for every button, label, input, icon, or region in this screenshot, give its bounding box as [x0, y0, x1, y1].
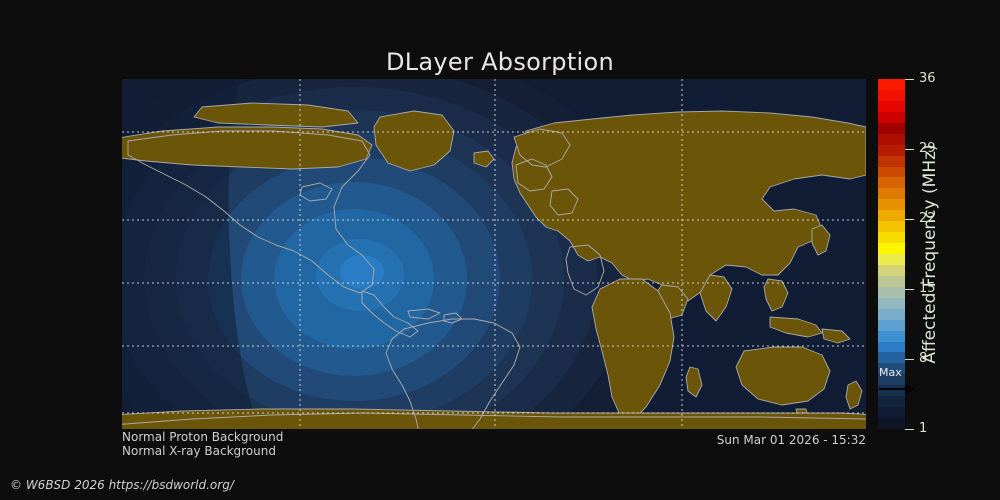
colorbar-tick-line: [905, 79, 914, 80]
colorbar-band: [878, 243, 905, 254]
colorbar-band: [878, 79, 905, 90]
colorbar-band: [878, 232, 905, 243]
colorbar-band: [878, 418, 905, 429]
colorbar-tick-line: [905, 149, 914, 150]
colorbar-band: [878, 199, 905, 210]
colorbar-band: [878, 123, 905, 134]
footer-credit: © W6BSD 2026 https://bsdworld.org/: [10, 478, 234, 492]
max-arrow-icon: [878, 379, 916, 389]
colorbar-band: [878, 101, 905, 112]
colorbar-tick-line: [905, 219, 914, 220]
map-canvas: [122, 79, 866, 429]
colorbar-band: [878, 188, 905, 199]
colorbar-band: [878, 309, 905, 320]
colorbar-band: [878, 210, 905, 221]
colorbar-band: [878, 352, 905, 363]
colorbar-band: [878, 221, 905, 232]
colorbar-band: [878, 298, 905, 309]
absorption-map[interactable]: [122, 79, 866, 429]
colorbar-band: [878, 167, 905, 178]
dlayer-absorption-page: DLayer Absorption: [0, 0, 1000, 500]
colorbar-band: [878, 156, 905, 167]
max-label: Max: [879, 367, 902, 379]
timestamp: Sun Mar 01 2026 - 15:32: [717, 433, 866, 447]
colorbar-band: [878, 320, 905, 331]
colorbar-band: [878, 145, 905, 156]
colorbar-band: [878, 112, 905, 123]
page-title: DLayer Absorption: [0, 48, 1000, 76]
colorbar-band: [878, 254, 905, 265]
colorbar-tick-line: [905, 359, 914, 360]
colorbar-tick-line: [905, 429, 914, 430]
colorbar-band: [878, 287, 905, 298]
colorbar-band: [878, 331, 905, 342]
colorbar-max-marker: Max: [878, 368, 938, 390]
proton-background-note: Normal Proton Background: [122, 430, 283, 444]
colorbar-tick-line: [905, 289, 914, 290]
colorbar-band: [878, 265, 905, 276]
colorbar-band: [878, 134, 905, 145]
colorbar-band: [878, 90, 905, 101]
colorbar-band: [878, 276, 905, 287]
colorbar-band: [878, 407, 905, 418]
xray-background-note: Normal X-ray Background: [122, 444, 276, 458]
colorbar-band: [878, 342, 905, 353]
colorbar-band: [878, 396, 905, 407]
colorbar-band: [878, 177, 905, 188]
